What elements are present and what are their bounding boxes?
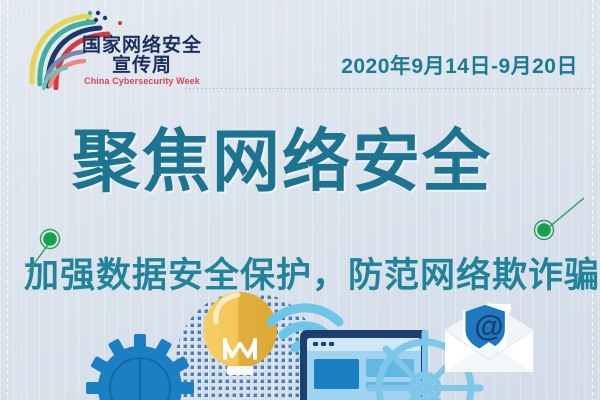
network-node-left-icon xyxy=(24,222,70,274)
illustration-strip: @ xyxy=(0,280,600,400)
poster-canvas: 国家网络安全 宣传周 China Cybersecurity Week 2020… xyxy=(0,0,600,400)
page-title: 聚焦网络安全 xyxy=(72,128,492,196)
network-node-right-icon xyxy=(518,190,588,242)
cybersecurity-week-logo: 国家网络安全 宣传周 China Cybersecurity Week xyxy=(20,6,200,90)
event-date-range: 2020年9月14日-9月20日 xyxy=(341,50,578,80)
logo-name-cn: 国家网络安全 宣传周 xyxy=(82,36,202,76)
email-shield-icon: @ xyxy=(445,302,533,372)
gear-icon xyxy=(86,334,194,400)
logo-name-cn-line1: 国家网络安全 xyxy=(82,35,202,56)
header-dotted-divider xyxy=(185,88,592,89)
logo-name-en: China Cybersecurity Week xyxy=(82,76,202,86)
svg-text:@: @ xyxy=(474,310,503,343)
logo-name-cn-line2: 宣传周 xyxy=(82,56,202,76)
